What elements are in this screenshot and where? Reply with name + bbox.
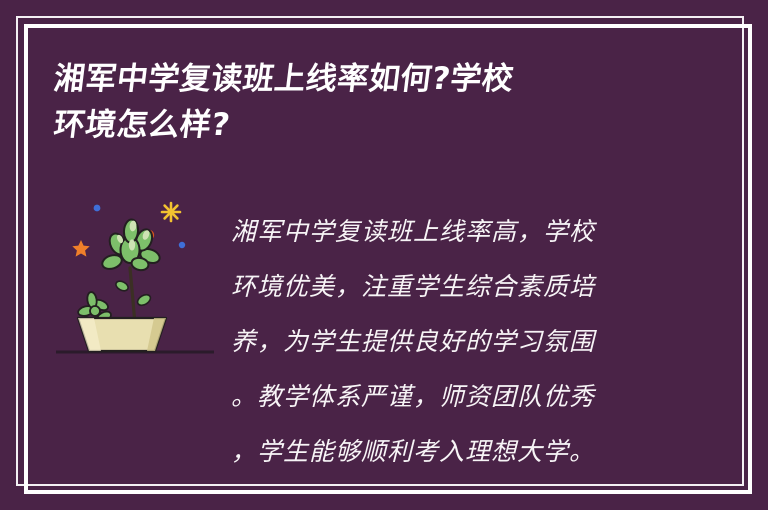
starburst-yellow-icon: [162, 203, 180, 221]
body-line-3: 养，为学生提供良好的学习氛围: [231, 314, 708, 369]
article-card: 湘军中学复读班上线率如何?学校 环境怎么样?: [0, 0, 768, 510]
body-line-1: 湘军中学复读班上线率高，学校: [231, 204, 708, 259]
title-line-1: 湘军中学复读班上线率如何?学校: [51, 56, 657, 102]
plant-pot: [78, 318, 166, 351]
body-line-4: 。教学体系严谨，师资团队优秀: [231, 369, 708, 424]
page-title: 湘军中学复读班上线率如何?学校 环境怎么样?: [54, 56, 654, 148]
body-line-5: ，学生能够顺利考入理想大学。: [231, 424, 708, 479]
body-text: 湘军中学复读班上线率高，学校 环境优美，注重学生综合素质培 养，为学生提供良好的…: [231, 190, 708, 479]
potted-plant-illustration: [54, 190, 219, 370]
content-area: 湘军中学复读班上线率高，学校 环境优美，注重学生综合素质培 养，为学生提供良好的…: [54, 190, 708, 479]
dot-blue-upper-icon: [94, 205, 101, 212]
title-line-2: 环境怎么样?: [51, 102, 657, 148]
body-line-2: 环境优美，注重学生综合素质培: [231, 259, 708, 314]
dot-blue-lower-icon: [179, 242, 185, 248]
star-orange-icon: [72, 240, 89, 257]
